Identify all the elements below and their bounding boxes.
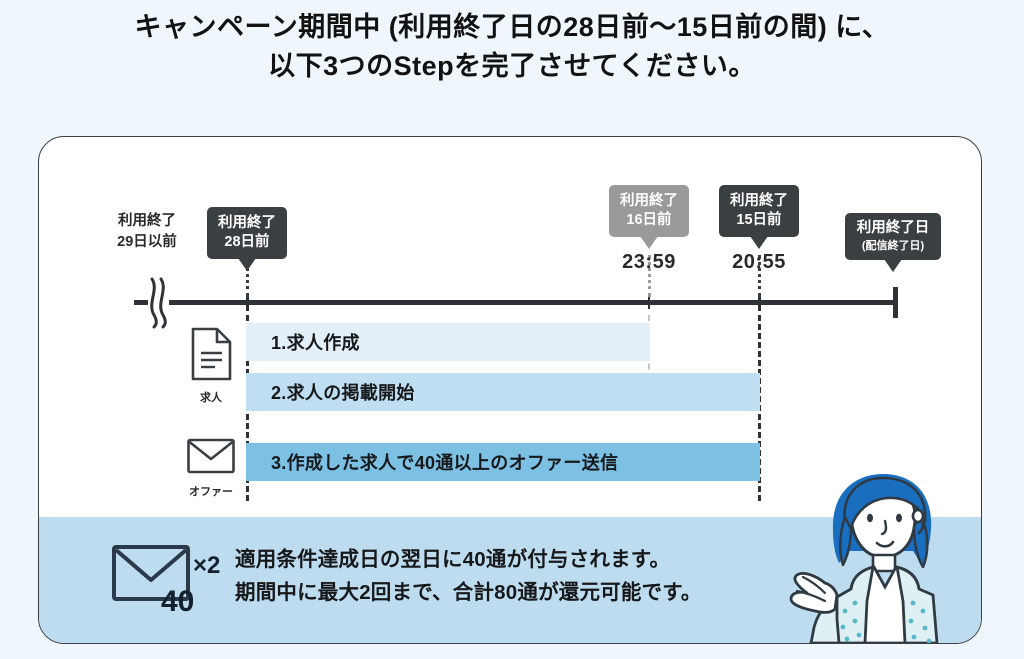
marker-before28-line1: 利用終了 [218,215,276,231]
marker-before28[interactable]: 利用終了 28日前 [207,207,287,259]
step-bar-1[interactable]: 1.求人作成 [246,323,650,361]
marker-before15[interactable]: 利用終了 15日前 [719,185,799,237]
badge-tail-icon [750,236,768,249]
marker-before28-line2: 28日前 [218,233,276,252]
marker-before29-line2: 29日以前 [97,232,197,253]
envelope-count-icon: 40 ×2 [111,539,223,617]
page-title-line-1: キャンペーン期間中 (利用終了日の28日前〜15日前の間) に、 [0,8,1024,47]
marker-end-date[interactable]: 利用終了日 (配信終了日) [845,213,941,260]
marker-before16-line2: 16日前 [620,211,678,230]
timeline-card: 利用終了 29日以前 利用終了 28日前 利用終了 16日前 23:59 利用終… [38,136,982,644]
step-bar-3[interactable]: 3.作成した求人で40通以上のオファー送信 [246,443,760,481]
badge-tail-icon [884,259,902,272]
envelope-icon [186,437,236,475]
timeline-axis [169,300,894,305]
marker-before15-line2: 15日前 [730,211,788,230]
page-title-line-2: 以下3つのStepを完了させてください。 [0,47,1024,86]
time-label-before15: 20:55 [708,251,810,274]
badge-tail-icon [238,258,256,271]
footer-panel: 40 ×2 適用条件達成日の翌日に40通が付与されます。 期間中に最大2回まで、… [39,517,982,643]
marker-before16-line1: 利用終了 [620,193,678,209]
axis-break-icon [145,277,171,329]
operator-illustration [781,471,977,643]
time-label-before16: 23:59 [598,251,700,274]
marker-end-date-line2: (配信終了日) [851,239,935,253]
marker-before29: 利用終了 29日以前 [97,211,197,253]
icon-caption-offer: オファー [181,483,241,499]
footer-note-line-1: 適用条件達成日の翌日に40通が付与されます。 [235,543,702,576]
icon-group-offer: オファー [181,437,241,499]
icon-group-job: 求人 [181,327,241,405]
step-bar-3-label: 3.作成した求人で40通以上のオファー送信 [246,449,618,475]
axis-tick-before16 [648,296,650,309]
step-bar-1-label: 1.求人作成 [246,329,360,355]
marker-end-date-line1: 利用終了日 [857,220,930,236]
badge-tail-icon [640,236,658,249]
marker-before29-line1: 利用終了 [97,211,197,232]
marker-before16[interactable]: 利用終了 16日前 [609,185,689,237]
footer-note: 適用条件達成日の翌日に40通が付与されます。 期間中に最大2回まで、合計80通が… [235,543,702,609]
document-icon [189,327,233,381]
page-title: キャンペーン期間中 (利用終了日の28日前〜15日前の間) に、 以下3つのSt… [0,8,1024,86]
icon-caption-job: 求人 [181,389,241,405]
svg-text:40: 40 [161,585,194,617]
step-bar-2-label: 2.求人の掲載開始 [246,379,415,405]
marker-before15-line1: 利用終了 [730,193,788,209]
step-bar-2[interactable]: 2.求人の掲載開始 [246,373,760,411]
footer-note-line-2: 期間中に最大2回まで、合計80通が還元可能です。 [235,576,702,609]
axis-end-cap [893,287,898,318]
svg-text:×2: ×2 [193,552,220,579]
